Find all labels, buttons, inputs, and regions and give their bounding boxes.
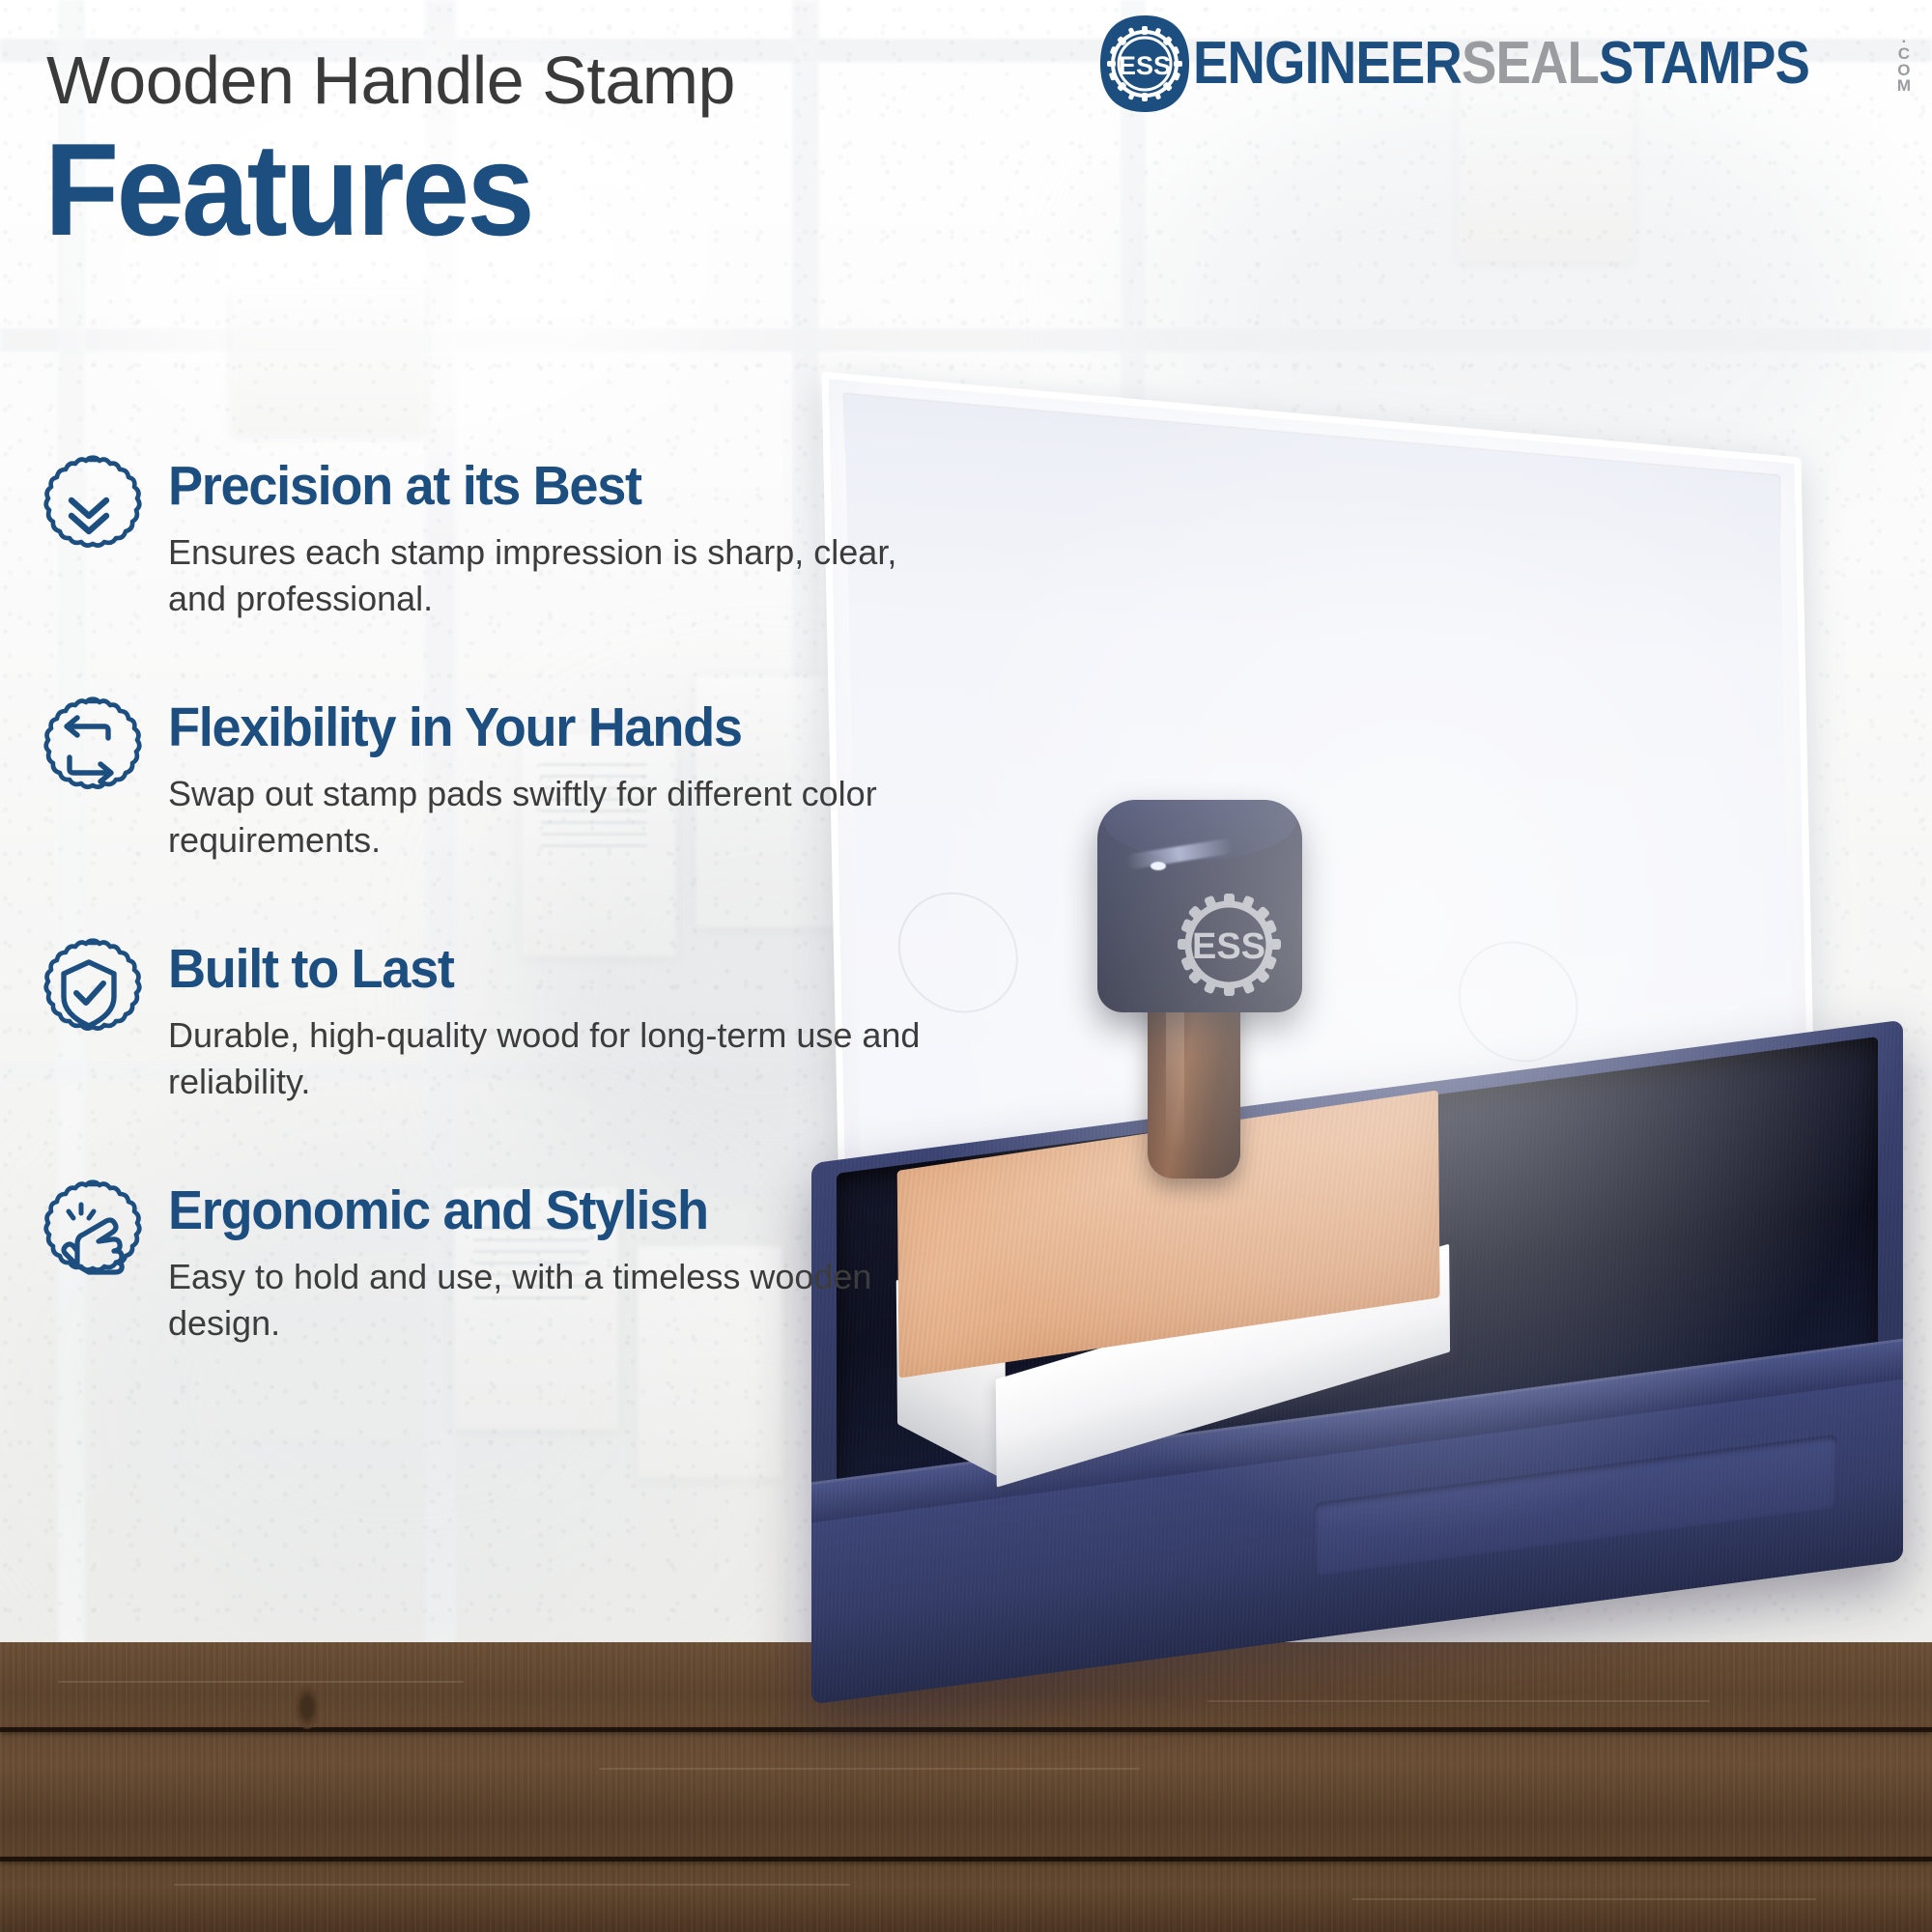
- page-kicker: Wooden Handle Stamp: [46, 46, 1012, 114]
- logo-dotcom-char-1: C: [1898, 46, 1910, 63]
- floor-plank-seam-2: [0, 1857, 1932, 1861]
- feature-text: Flexibility in Your Hands Swap out stamp…: [145, 694, 1018, 864]
- page-title: Features: [44, 124, 1033, 255]
- logo-word-seal: SEAL: [1462, 34, 1599, 94]
- feature-description: Durable, high-quality wood for long-term…: [168, 1012, 931, 1105]
- knob-ess-gear-icon: ESS: [1163, 875, 1294, 1007]
- knob-ess-text: ESS: [1192, 926, 1265, 967]
- ess-badge-icon: ESS: [1094, 14, 1195, 114]
- feature-title: Ergonomic and Stylish: [168, 1182, 976, 1238]
- feature-text: Built to Last Durable, high-quality wood…: [145, 935, 1018, 1105]
- feature-list: Precision at its Best Ensures each stamp…: [33, 452, 1018, 1418]
- ess-logo[interactable]: ESS ENGINEER SEAL STAMPS . C O M: [1094, 14, 1911, 114]
- floor-grain-5: [1352, 1898, 1816, 1900]
- logo-dotcom-char-3: M: [1897, 78, 1911, 95]
- logo-word-stamps: STAMPS: [1599, 34, 1809, 94]
- feature-title: Built to Last: [168, 941, 976, 997]
- feature-description: Easy to hold and use, with a timeless wo…: [168, 1254, 931, 1347]
- feature-item: Ergonomic and Stylish Easy to hold and u…: [33, 1177, 1018, 1347]
- double-chevron-down-badge-icon: [33, 454, 145, 566]
- floor-grain-1: [58, 1681, 464, 1683]
- feature-title: Flexibility in Your Hands: [168, 699, 976, 755]
- feature-item: Built to Last Durable, high-quality wood…: [33, 935, 1018, 1105]
- stamp-handle-knob: ESS: [1097, 800, 1302, 1012]
- logo-word-engineer: ENGINEER: [1193, 34, 1462, 94]
- floor-grain-3: [174, 1884, 850, 1886]
- logo-dotcom-suffix: . C O M: [1897, 30, 1911, 98]
- feature-item: Flexibility in Your Hands Swap out stamp…: [33, 694, 1018, 864]
- ess-badge-text: ESS: [1119, 51, 1171, 80]
- feature-description: Swap out stamp pads swiftly for differen…: [168, 771, 931, 864]
- tap-hand-badge-icon: [33, 1179, 145, 1291]
- product-photo: ESS: [918, 415, 1932, 1787]
- feature-item: Precision at its Best Ensures each stamp…: [33, 452, 1018, 622]
- knob-specular-dot: [1151, 862, 1166, 870]
- feature-text: Ergonomic and Stylish Easy to hold and u…: [145, 1177, 1018, 1347]
- infographic-canvas: Wooden Handle Stamp Features: [0, 0, 1932, 1932]
- ess-wordmark: ENGINEER SEAL STAMPS: [1193, 34, 1809, 94]
- shield-check-badge-icon: [33, 937, 145, 1049]
- feature-title: Precision at its Best: [168, 458, 976, 514]
- floor-knot: [295, 1685, 320, 1729]
- feature-description: Ensures each stamp impression is sharp, …: [168, 529, 931, 622]
- feature-text: Precision at its Best Ensures each stamp…: [145, 452, 1018, 622]
- swap-arrows-badge-icon: [33, 696, 145, 808]
